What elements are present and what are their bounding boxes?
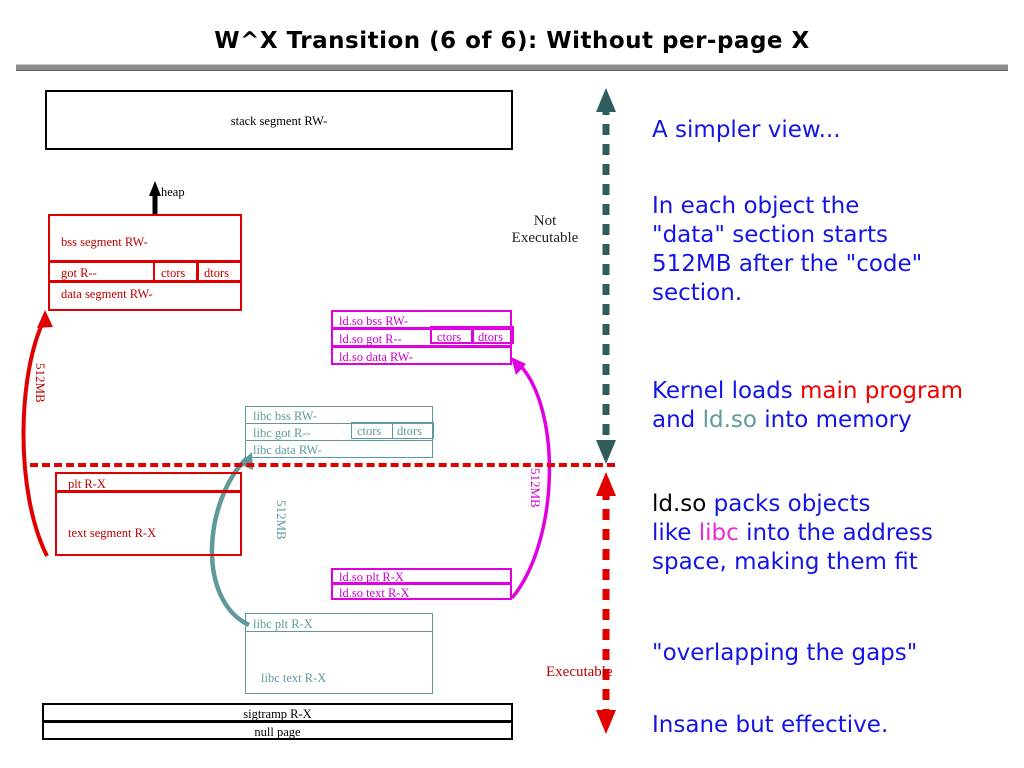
libc-512mb-label: 512MB — [273, 500, 289, 540]
bss-segment-label: bss segment RW- — [61, 236, 148, 249]
not-executable-arrow-icon — [596, 88, 616, 464]
note-overlapping-gaps: "overlapping the gaps" — [652, 639, 1024, 668]
note-p3-line1: Kernel loads main program — [652, 377, 1024, 406]
ldso-ctors-box: ctors — [430, 326, 473, 344]
ldso-text-label: ld.so text R-X — [339, 587, 409, 600]
plt-box: plt R-X — [55, 472, 242, 492]
stack-segment-label: stack segment RW- — [47, 115, 511, 128]
plt-label: plt R-X — [68, 478, 106, 491]
libc-text-box: libc text R-X — [245, 631, 433, 694]
ctors-label: ctors — [161, 267, 185, 280]
note-p4-e: into the address — [739, 520, 933, 546]
libc-plt-label: libc plt R-X — [253, 618, 313, 631]
ldso-got-label: ld.so got R-- — [339, 333, 402, 346]
not-executable-label: Not Executable — [500, 213, 590, 248]
data-segment-label: data segment RW- — [61, 288, 153, 301]
note-p6-text: Insane but effective. — [652, 712, 888, 738]
note-ldso-packs: ld.so packs objects like libc into the a… — [652, 490, 1024, 577]
note-p4-line3: space, making them fit — [652, 548, 1024, 577]
libc-bss-label: libc bss RW- — [253, 410, 317, 423]
heap-arrow-icon — [149, 181, 161, 215]
text-segment-box: text segment R-X — [55, 491, 242, 556]
libc-dtors-label: dtors — [397, 425, 422, 438]
libc-got-label: libc got R-- — [253, 427, 311, 440]
ldso-data-box: ld.so data RW- — [331, 346, 512, 365]
not-executable-line2: Executable — [500, 230, 590, 247]
note-p3-ldso: ld.so — [703, 407, 757, 433]
note-p4-ldso: ld.so — [652, 491, 706, 517]
executable-boundary-divider — [30, 463, 615, 467]
note-p5-text: "overlapping the gaps" — [652, 640, 917, 666]
libc-dtors-box: dtors — [392, 422, 434, 439]
bss-segment-box: bss segment RW- — [48, 214, 242, 262]
note-insane-but-effective: Insane but effective. — [652, 711, 1024, 740]
null-page-label: null page — [44, 726, 511, 739]
libc-data-box: libc data RW- — [245, 440, 433, 458]
executable-label: Executable — [546, 664, 656, 681]
sigtramp-box: sigtramp R-X — [42, 703, 513, 722]
ctors-box: ctors — [153, 261, 198, 282]
note-p3-e: into memory — [757, 407, 912, 433]
ldso-data-label: ld.so data RW- — [339, 351, 413, 364]
ldso-bss-label: ld.so bss RW- — [339, 315, 408, 328]
sigtramp-label: sigtramp R-X — [44, 708, 511, 721]
not-executable-line1: Not — [500, 213, 590, 230]
libc-plt-box: libc plt R-X — [245, 613, 433, 632]
note-p3-main-program: main program — [800, 378, 963, 404]
note-p2-line1: In each object the — [652, 192, 1024, 221]
libc-ctors-label: ctors — [357, 425, 381, 438]
note-p4-line2: like libc into the address — [652, 519, 1024, 548]
libc-text-label: libc text R-X — [261, 672, 326, 685]
heap-label: heap — [161, 185, 185, 200]
ldso-text-box: ld.so text R-X — [331, 583, 512, 600]
page-title: W^X Transition (6 of 6): Without per-pag… — [0, 28, 1024, 54]
ldso-ctors-label: ctors — [437, 331, 461, 344]
libc-data-label: libc data RW- — [253, 444, 322, 457]
slide-canvas: W^X Transition (6 of 6): Without per-pag… — [0, 0, 1024, 768]
stack-segment-box: stack segment RW- — [45, 90, 513, 150]
main-program-512mb-curve-icon — [23, 310, 53, 556]
note-p2-line4: section. — [652, 279, 1024, 308]
libc-ctors-box: ctors — [351, 422, 393, 439]
ldso-dtors-label: dtors — [478, 331, 503, 344]
note-data-section: In each object the "data" section starts… — [652, 192, 1024, 308]
note-p4-b: packs objects — [706, 491, 870, 517]
note-p2-line2: "data" section starts — [652, 221, 1024, 250]
note-p1-text: A simpler view... — [652, 117, 841, 143]
dtors-label: dtors — [204, 267, 229, 280]
note-p3-a: Kernel loads — [652, 378, 800, 404]
ldso-plt-box: ld.so plt R-X — [331, 568, 512, 584]
note-simpler-view: A simpler view... — [652, 116, 1024, 145]
ldso-dtors-box: dtors — [472, 326, 514, 344]
note-p2-line3: 512MB after the "code" — [652, 250, 1024, 279]
dtors-box: dtors — [197, 261, 242, 282]
note-p4-libc: libc — [699, 520, 739, 546]
main-program-512mb-label: 512MB — [32, 363, 48, 403]
note-p3-c: and — [652, 407, 703, 433]
ldso-512mb-label: 512MB — [527, 468, 543, 508]
executable-arrow-icon — [596, 472, 616, 734]
note-p4-line1: ld.so packs objects — [652, 490, 1024, 519]
note-p4-c: like — [652, 520, 699, 546]
ldso-plt-label: ld.so plt R-X — [339, 571, 404, 584]
note-kernel-loads: Kernel loads main program and ld.so into… — [652, 377, 1024, 435]
note-p3-line2: and ld.so into memory — [652, 406, 1024, 435]
text-segment-label: text segment R-X — [68, 527, 156, 540]
got-label: got R-- — [61, 267, 97, 280]
data-segment-box: data segment RW- — [48, 281, 242, 311]
null-page-box: null page — [42, 721, 513, 740]
title-divider-rule — [16, 64, 1008, 71]
